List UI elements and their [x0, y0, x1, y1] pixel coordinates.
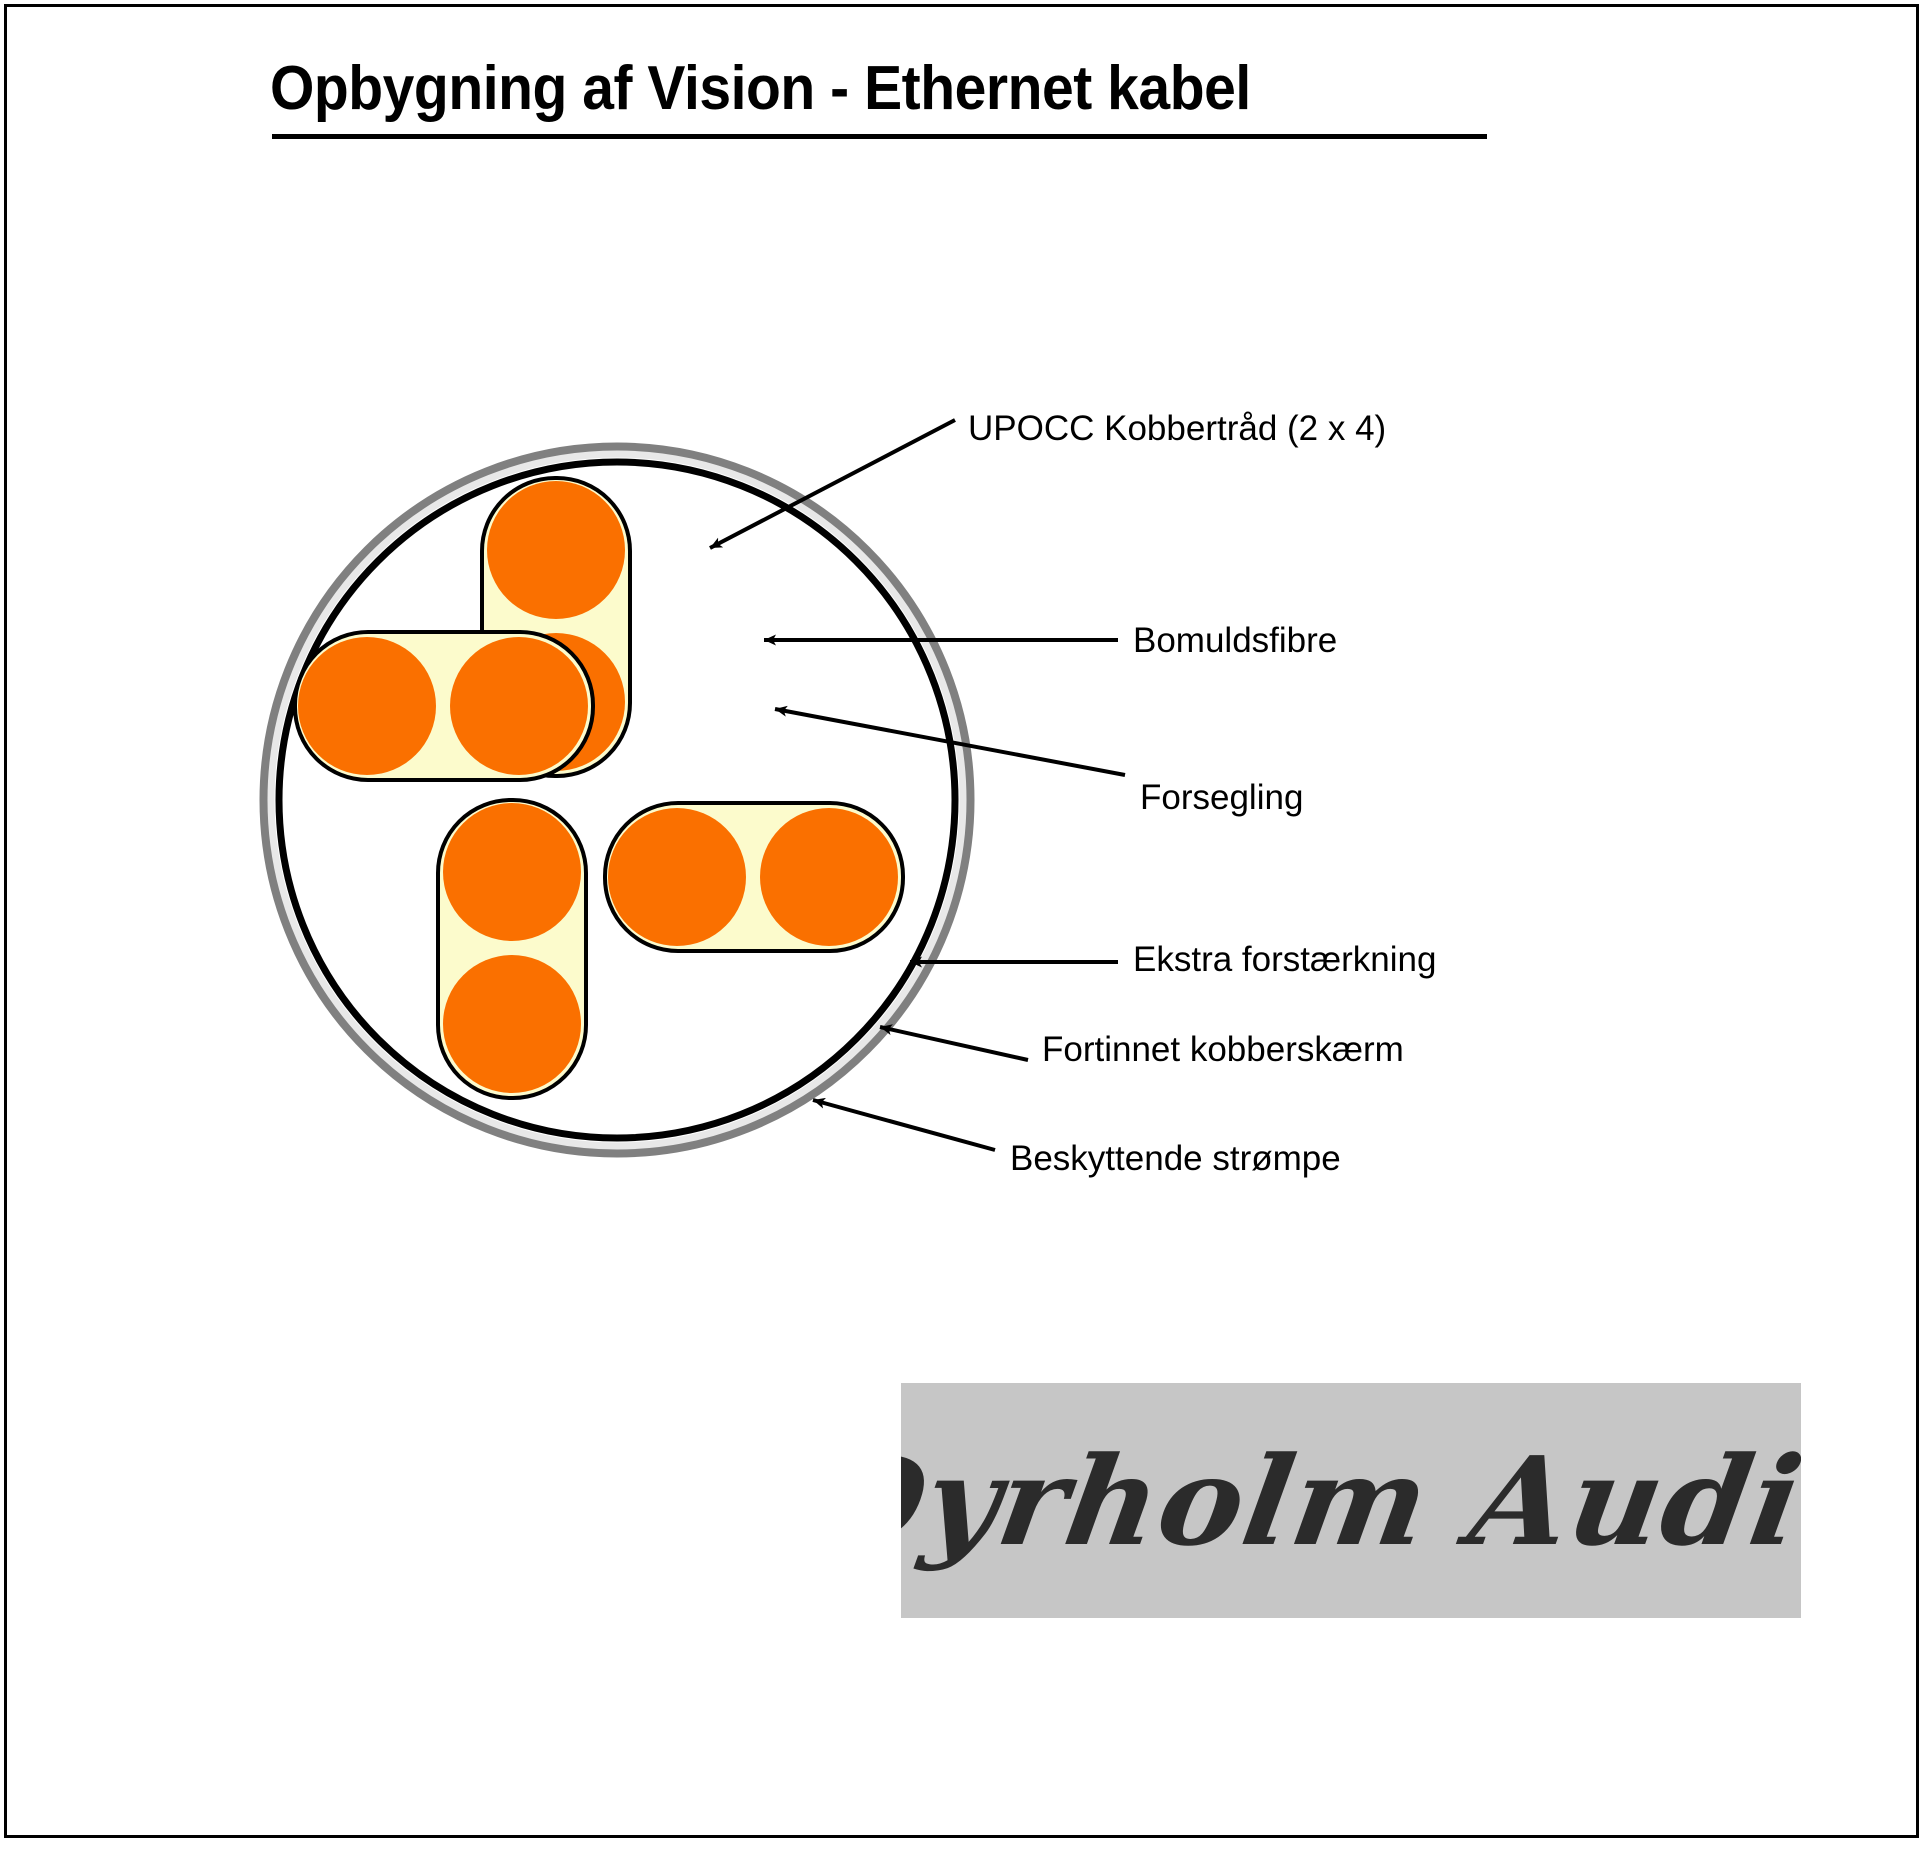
- conductor-bottom-2: [443, 955, 581, 1093]
- brand-logo-text: Dyrholm Audio: [901, 1436, 1801, 1566]
- callout-label-bomuldsfibre: Bomuldsfibre: [1133, 621, 1337, 661]
- callout-label-ekstra-forstaerkning: Ekstra forstærkning: [1133, 940, 1436, 980]
- diagram-page: Opbygning af Vision - Ethernet kabel: [0, 0, 1931, 1850]
- conductor-group-left: [295, 632, 593, 780]
- leader-line-fortinnet-kobberskaerm: [880, 1027, 1028, 1060]
- callout-label-fortinnet-kobberskaerm: Fortinnet kobberskærm: [1042, 1030, 1404, 1070]
- leader-line-beskyttende-stroempe: [813, 1100, 995, 1150]
- conductor-right-1: [608, 808, 746, 946]
- brand-logo-box: Dyrholm Audio: [901, 1383, 1801, 1618]
- conductor-right-2: [760, 808, 898, 946]
- conductor-group-right: [605, 803, 903, 951]
- callout-label-beskyttende-stroempe: Beskyttende strømpe: [1010, 1139, 1341, 1179]
- callout-label-forsegling: Forsegling: [1140, 778, 1303, 818]
- conductor-left-2: [450, 637, 588, 775]
- conductor-group-bottom: [438, 800, 586, 1098]
- conductor-top-1: [487, 481, 625, 619]
- conductor-left-1: [298, 637, 436, 775]
- conductor-bottom-1: [443, 803, 581, 941]
- callout-label-upocc-kobbertraad: UPOCC Kobbertråd (2 x 4): [968, 409, 1386, 449]
